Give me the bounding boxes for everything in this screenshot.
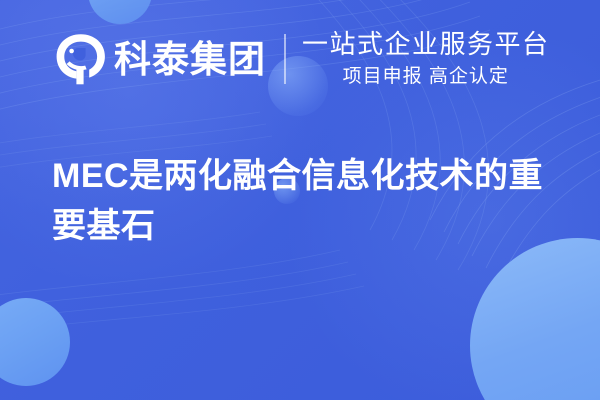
brand-header: 科泰集团 一站式企业服务平台 项目申报 高企认定: [52, 28, 550, 90]
slogan-block: 一站式企业服务平台 项目申报 高企认定: [302, 30, 550, 88]
brand-name: 科泰集团: [114, 41, 266, 78]
ketai-group-logo-icon: [52, 31, 108, 87]
promo-banner: 科泰集团 一站式企业服务平台 项目申报 高企认定 MEC是两化融合信息化技术的重…: [0, 0, 600, 400]
slogan-main: 一站式企业服务平台: [302, 30, 550, 60]
page-title: MEC是两化融合信息化技术的重要基石: [52, 152, 558, 251]
header-divider: [284, 34, 286, 84]
slogan-sub: 项目申报 高企认定: [302, 66, 550, 88]
